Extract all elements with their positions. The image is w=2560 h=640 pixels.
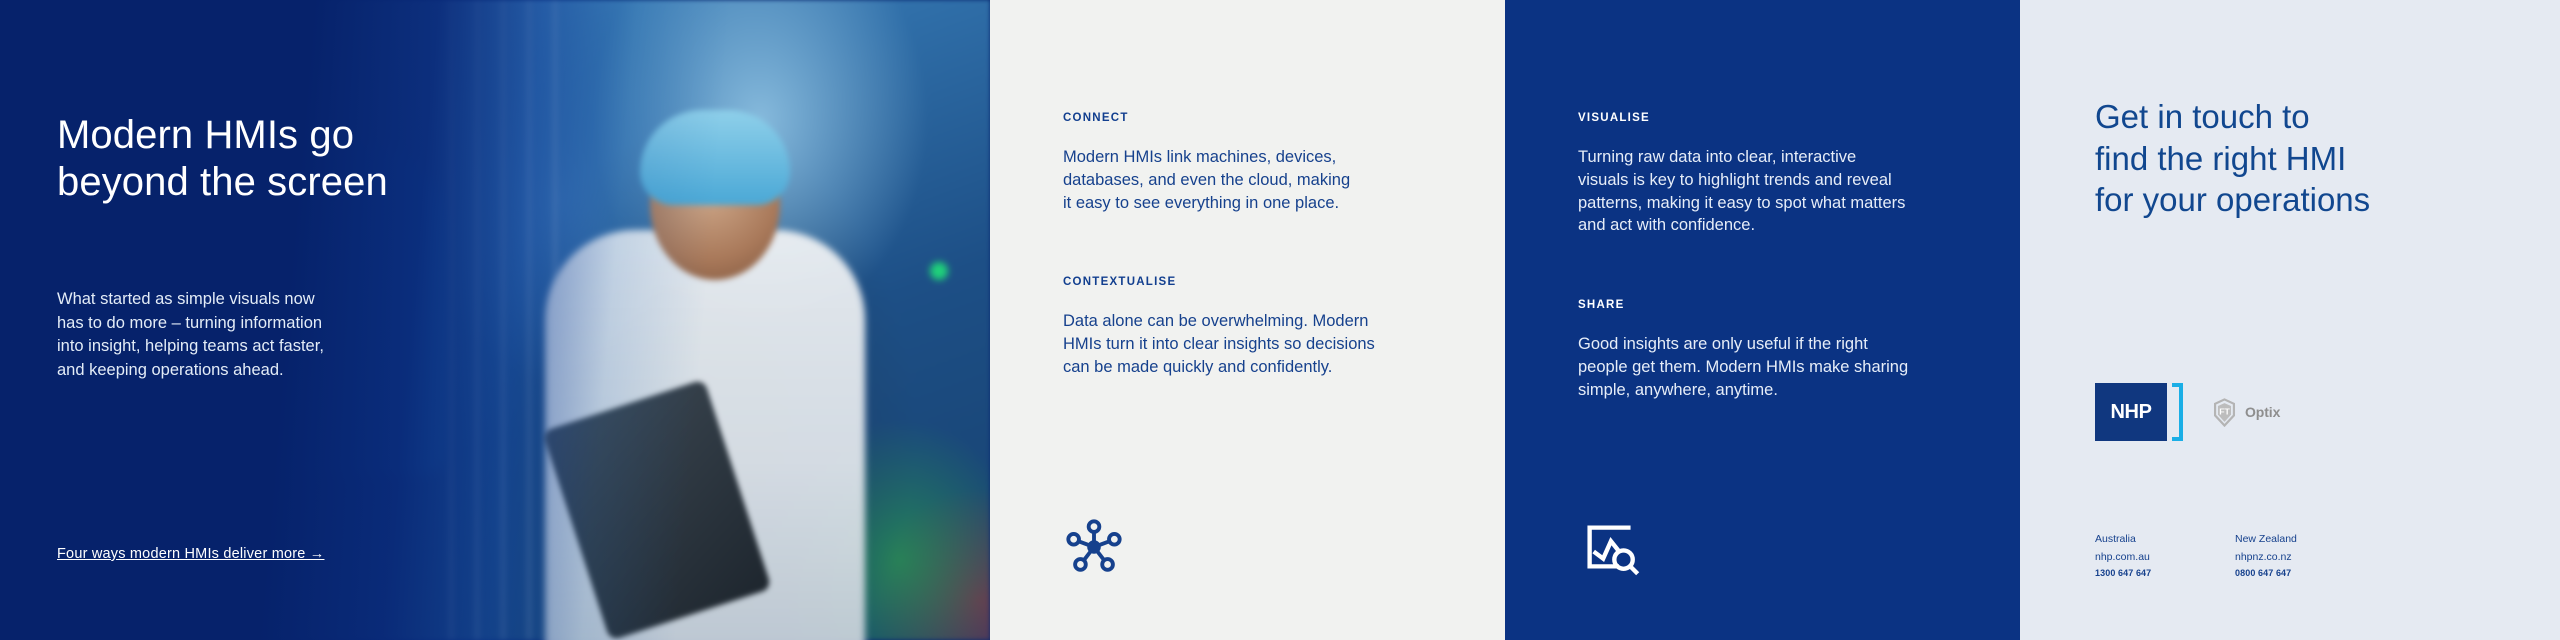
connect-eyebrow: CONNECT bbox=[1063, 112, 1505, 124]
visualise-panel: VISUALISE Turning raw data into clear, i… bbox=[1505, 0, 2020, 640]
hero-body-text: What started as simple visuals now has t… bbox=[57, 288, 387, 382]
contact-region-new-zealand: New Zealand nhpnz.co.nz 0800 647 647 bbox=[2235, 533, 2331, 578]
nhp-logo-text: NHP bbox=[2110, 401, 2151, 424]
visualise-eyebrow: VISUALISE bbox=[1578, 112, 2020, 124]
contact-panel: Get in touch to find the right HMI for y… bbox=[2020, 0, 2560, 640]
contact-region-label: Australia bbox=[2095, 533, 2191, 545]
contact-region-label: New Zealand bbox=[2235, 533, 2331, 545]
ft-optix-logo: FT Optix bbox=[2210, 398, 2280, 427]
share-eyebrow: SHARE bbox=[1578, 299, 2020, 311]
logo-row: NHP FT Optix bbox=[2095, 383, 2280, 441]
network-hub-icon bbox=[1063, 516, 1125, 578]
chart-search-icon bbox=[1578, 516, 1640, 578]
hero-title: Modern HMIs go beyond the screen bbox=[57, 112, 430, 206]
contextualise-body-text: Data alone can be overwhelming. Modern H… bbox=[1063, 310, 1505, 378]
marketing-board: Modern HMIs go beyond the screen What st… bbox=[0, 0, 2560, 640]
nhp-logo-bracket bbox=[2172, 383, 2183, 441]
contact-phone-number[interactable]: 0800 647 647 bbox=[2235, 568, 2331, 578]
contact-website-link[interactable]: nhp.com.au bbox=[2095, 551, 2191, 563]
panel-spacer bbox=[1578, 237, 2020, 299]
visualise-body-text: Turning raw data into clear, interactive… bbox=[1578, 146, 2020, 237]
contact-region-australia: Australia nhp.com.au 1300 647 647 bbox=[2095, 533, 2191, 578]
ft-badge-icon: FT bbox=[2210, 398, 2239, 427]
contact-phone-number[interactable]: 1300 647 647 bbox=[2095, 568, 2191, 578]
nhp-logo: NHP bbox=[2095, 383, 2167, 441]
svg-text:FT: FT bbox=[2219, 406, 2230, 416]
hero-panel: Modern HMIs go beyond the screen What st… bbox=[0, 0, 990, 640]
contextualise-block: CONTEXTUALISE Data alone can be overwhel… bbox=[1063, 276, 1505, 378]
share-block: SHARE Good insights are only useful if t… bbox=[1578, 299, 2020, 401]
hero-cta-link[interactable]: Four ways modern HMIs deliver more → bbox=[57, 546, 324, 562]
connect-body-text: Modern HMIs link machines, devices, data… bbox=[1063, 146, 1505, 214]
ft-optix-wordmark: Optix bbox=[2245, 404, 2280, 420]
contact-website-link[interactable]: nhpnz.co.nz bbox=[2235, 551, 2331, 563]
connect-block: CONNECT Modern HMIs link machines, devic… bbox=[1063, 112, 1505, 214]
share-body-text: Good insights are only useful if the rig… bbox=[1578, 333, 2020, 401]
contact-title: Get in touch to find the right HMI for y… bbox=[2095, 96, 2560, 221]
connect-panel: CONNECT Modern HMIs link machines, devic… bbox=[990, 0, 1505, 640]
contextualise-eyebrow: CONTEXTUALISE bbox=[1063, 276, 1505, 288]
visualise-block: VISUALISE Turning raw data into clear, i… bbox=[1578, 112, 2020, 237]
hero-content: Modern HMIs go beyond the screen What st… bbox=[0, 0, 430, 640]
panel-spacer bbox=[1063, 214, 1505, 276]
contact-footer: Australia nhp.com.au 1300 647 647 New Ze… bbox=[2095, 533, 2331, 578]
